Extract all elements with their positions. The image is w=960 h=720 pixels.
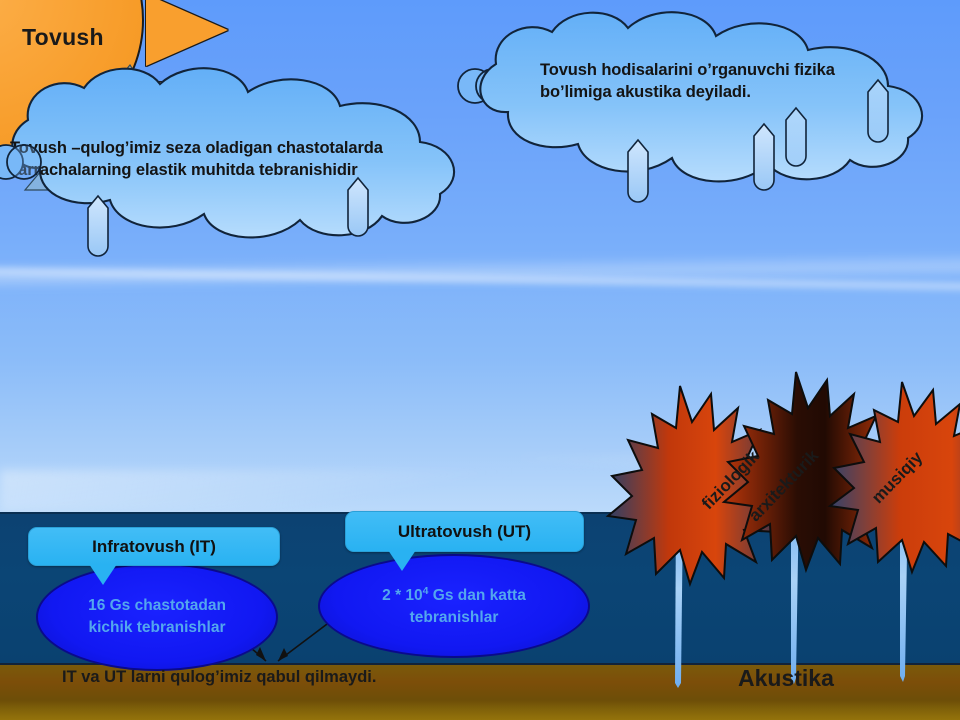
right-cloud-text: Tovush hodisalarini o’rganuvchi fizika b…: [540, 60, 910, 104]
callout-ultratovush-label: Ultratovush (UT): [398, 522, 531, 542]
infratovush-line1: 16 Gs chastotadan: [88, 597, 226, 614]
infratovush-line2: kichik tebranishlar: [89, 619, 226, 636]
orange-triangle-right-icon: [146, 0, 228, 66]
callout-ultratovush[interactable]: Ultratovush (UT): [345, 511, 584, 552]
infratovush-ellipse[interactable]: 16 Gs chastotadan kichik tebranishlar: [36, 563, 278, 671]
callout-infratovush-label: Infratovush (IT): [92, 537, 216, 557]
acoustics-stars-group: [608, 378, 960, 708]
slide-canvas: Tovush Tovush –qulog’imiz seza oladigan …: [0, 0, 960, 720]
left-cloud: Tovush –qulog’imiz seza oladigan chastot…: [0, 58, 520, 258]
callout-tail-icon: [89, 564, 117, 585]
left-cloud-text: Tovush –qulog’imiz seza oladigan chastot…: [10, 138, 480, 182]
ground-caption: IT va UT larni qulog’imiz qabul qilmaydi…: [62, 668, 376, 687]
ultratovush-ellipse[interactable]: 2 * 104 Gs dan katta tebranishlar: [318, 554, 590, 658]
ultratovush-prefix: 2 * 10: [382, 587, 423, 604]
ultratovush-line2: tebranishlar: [410, 609, 499, 626]
ultratovush-suffix: Gs dan katta: [429, 587, 526, 604]
callout-infratovush[interactable]: Infratovush (IT): [28, 527, 280, 566]
callout-tail-icon: [388, 550, 416, 571]
thought-bubble-circles-left-icon: [0, 130, 54, 200]
right-cloud-shape: [450, 0, 960, 210]
akustika-label: Akustika: [738, 665, 834, 692]
right-cloud: Tovush hodisalarini o’rganuvchi fizika b…: [450, 0, 960, 210]
page-title: Tovush: [22, 24, 104, 51]
